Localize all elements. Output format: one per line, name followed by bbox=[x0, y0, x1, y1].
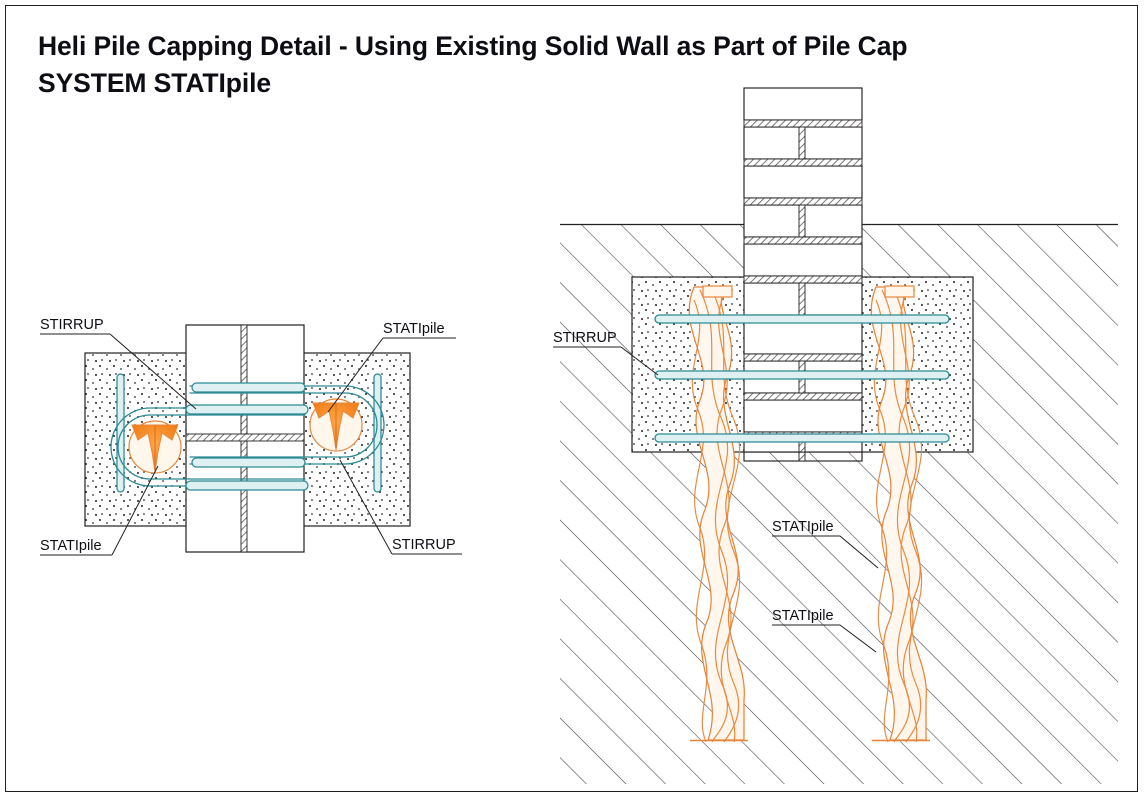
plan-stirrup-bottom-right-text: STIRRUP bbox=[392, 537, 456, 553]
stirrup-leg bbox=[186, 405, 308, 414]
stirrup-leg bbox=[192, 383, 305, 392]
stirrup-bar bbox=[655, 315, 949, 323]
page-root: Heli Pile Capping Detail - Using Existin… bbox=[0, 0, 1145, 799]
statipile-plan-right bbox=[310, 399, 362, 451]
wall-within-cap bbox=[744, 276, 862, 452]
plan-statipile-bottom-left-text: STATIpile bbox=[40, 538, 102, 554]
section-stirrup-label-text: STIRRUP bbox=[553, 330, 617, 346]
existing-solid-wall-plan bbox=[186, 325, 304, 552]
stirrup-end-bar-right bbox=[374, 374, 381, 492]
technical-drawing-canvas: STIRRUP STATIpile STATIpile bbox=[0, 0, 1145, 799]
stirrup-bar bbox=[655, 371, 949, 379]
stirrup-bar bbox=[655, 434, 949, 442]
section-view: STIRRUP STATIpile STATIpile bbox=[553, 88, 1118, 784]
plan-statipile-top-right-text: STATIpile bbox=[383, 321, 445, 337]
plan-stirrup-top-left-text: STIRRUP bbox=[40, 317, 104, 333]
statipile-plan-left bbox=[129, 421, 181, 473]
pile-cap-plate bbox=[703, 286, 732, 297]
section-statipile-lower-label-text: STATIpile bbox=[772, 608, 834, 624]
plan-view: STIRRUP STATIpile STATIpile STIRRUP bbox=[40, 317, 462, 555]
section-statipile-middle-label-text: STATIpile bbox=[772, 519, 834, 535]
wall-bed-joint bbox=[186, 434, 304, 441]
stirrup-leg bbox=[186, 481, 308, 490]
pile-cap-plate bbox=[885, 286, 914, 297]
stirrup-leg bbox=[192, 458, 305, 467]
